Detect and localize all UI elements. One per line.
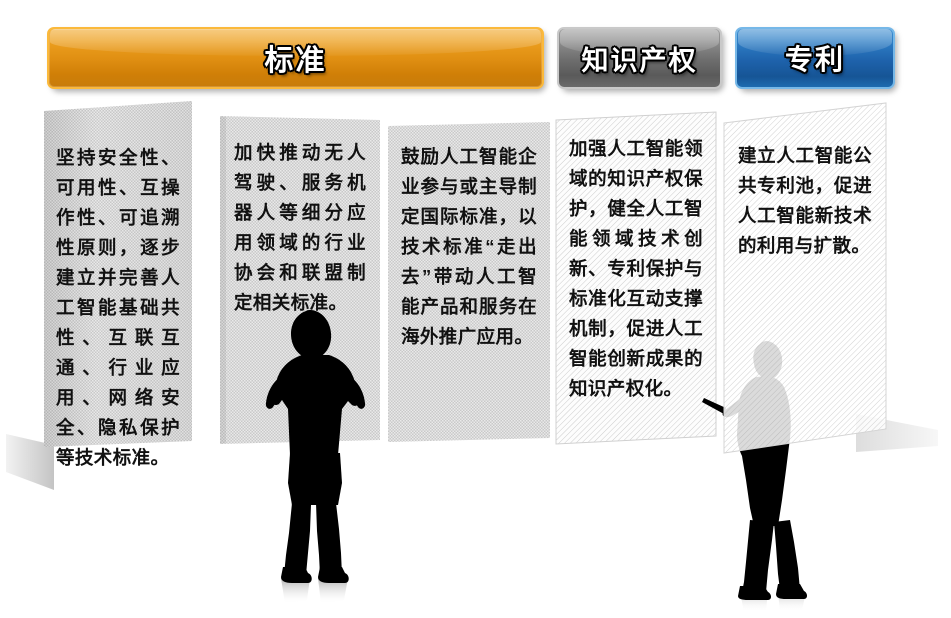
panel-4-text: 加强人工智能领域的知识产权保护，健全人工智能领域技术创新、专利保护与标准化互动支… [569, 134, 703, 404]
panel-1-text: 坚持安全性、可用性、互操作性、可追溯性原则，逐步建立并完善人工智能基础共性、互联… [56, 143, 180, 473]
figure-left-person-hands-on-hips [258, 305, 378, 555]
panel-2-text: 加快推动无人驾驶、服务机器人等细分应用领域的行业协会和联盟制定相关标准。 [234, 138, 366, 318]
panel-1: 坚持安全性、可用性、互操作性、可追溯性原则，逐步建立并完善人工智能基础共性、互联… [44, 95, 192, 447]
header-label-ip: 知识产权 [582, 39, 698, 78]
panel-3-text: 鼓励人工智能企业参与或主导制定国际标准，以技术标准“走出去”带动人工智能产品和服… [401, 142, 537, 352]
panel-5: 建立人工智能公共专利池，促进人工智能新技术的利用与扩散。 [724, 103, 886, 453]
header-button-patent[interactable]: 专利 [735, 27, 895, 89]
slide-canvas: 标准 知识产权 专利 [0, 0, 951, 618]
figure-left-reflection [258, 578, 378, 610]
panel-3: 鼓励人工智能企业参与或主导制定国际标准，以技术标准“走出去”带动人工智能产品和服… [388, 120, 550, 442]
header-button-standard[interactable]: 标准 [47, 27, 544, 89]
panel-5-text: 建立人工智能公共专利池，促进人工智能新技术的利用与扩散。 [738, 141, 872, 261]
panel-4: 加强人工智能领域的知识产权保护，健全人工智能领域技术创新、专利保护与标准化互动支… [556, 112, 716, 444]
header-button-ip[interactable]: 知识产权 [557, 27, 722, 89]
header-label-standard: 标准 [264, 37, 326, 79]
header-label-patent: 专利 [785, 38, 845, 78]
figure-right-reflection [716, 592, 836, 618]
